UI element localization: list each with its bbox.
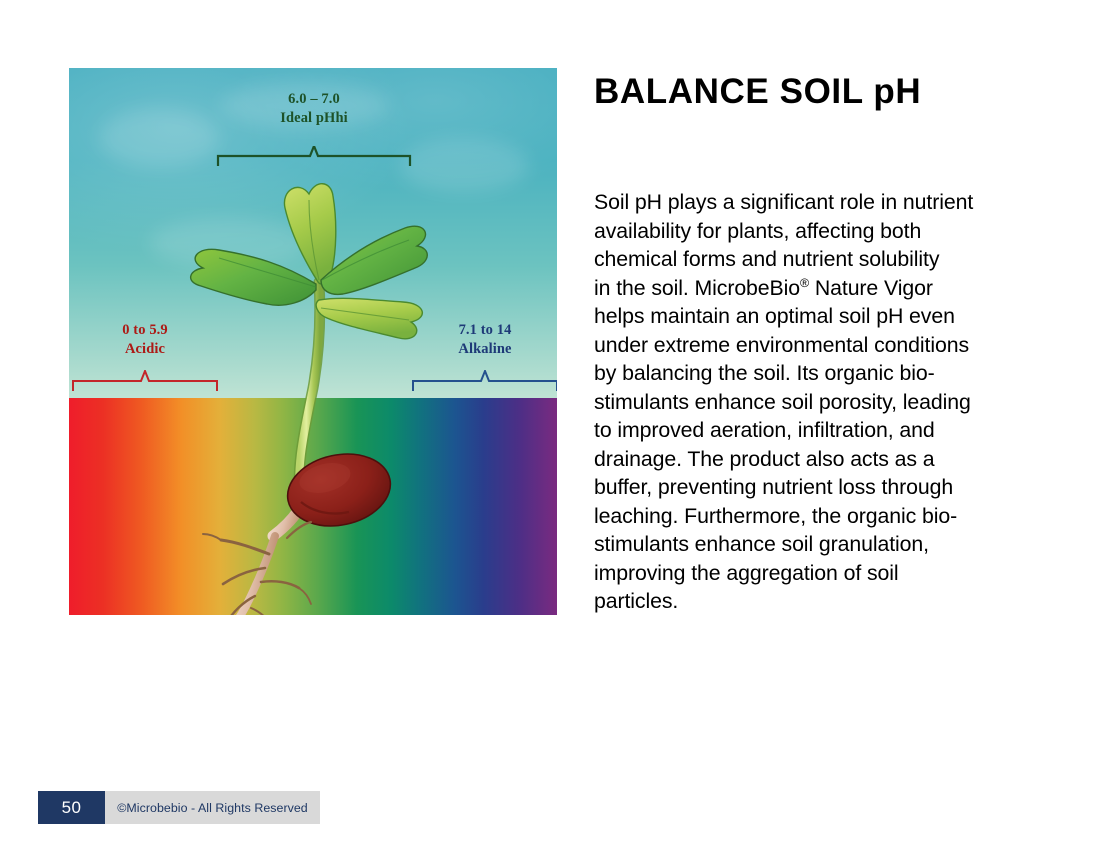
body-line: particles. — [594, 587, 1040, 616]
body-line: buffer, preventing nutrient loss through — [594, 473, 1040, 502]
acidic-ph-range: 0 to 5.9 — [85, 321, 205, 340]
body-line: under extreme environmental conditions — [594, 331, 1040, 360]
body-line: improving the aggregation of soil — [594, 559, 1040, 588]
soil-ph-illustration: 6.0 – 7.0 Ideal pHhi 0 to 5.9 Acidic 7.1… — [69, 68, 557, 615]
body-line: chemical forms and nutrient solubility — [594, 245, 1040, 274]
page-title: BALANCE SOIL pH — [594, 74, 1039, 111]
body-line: Soil pH plays a significant role in nutr… — [594, 188, 1040, 217]
content-column: BALANCE SOIL pH Soil pH plays a signific… — [594, 74, 1039, 111]
page-number: 50 — [38, 791, 105, 824]
registered-trademark-icon: ® — [800, 275, 809, 289]
body-line: leaching. Furthermore, the organic bio- — [594, 502, 1040, 531]
acidic-ph-label: 0 to 5.9 Acidic — [85, 321, 205, 359]
alkaline-ph-name: Alkaline — [425, 340, 545, 359]
alkaline-range-bracket — [411, 370, 557, 392]
body-line: in the soil. MicrobeBio® Nature Vigor — [594, 274, 1040, 303]
body-line: to improved aeration, infiltration, and — [594, 416, 1040, 445]
body-line: drainage. The product also acts as a — [594, 445, 1040, 474]
alkaline-ph-label: 7.1 to 14 Alkaline — [425, 321, 545, 359]
acidic-ph-name: Acidic — [85, 340, 205, 359]
body-line: stimulants enhance soil granulation, — [594, 530, 1040, 559]
copyright-notice: ©Microbebio - All Rights Reserved — [105, 791, 320, 824]
body-line: availability for plants, affecting both — [594, 217, 1040, 246]
body-paragraph: Soil pH plays a significant role in nutr… — [594, 188, 1040, 616]
body-line: by balancing the soil. Its organic bio- — [594, 359, 1040, 388]
ideal-ph-name: Ideal pHhi — [254, 109, 374, 128]
ideal-range-bracket — [214, 146, 414, 168]
body-line: helps maintain an optimal soil pH even — [594, 302, 1040, 331]
ideal-ph-label: 6.0 – 7.0 Ideal pHhi — [254, 90, 374, 128]
acidic-range-bracket — [71, 370, 219, 392]
body-line: stimulants enhance soil porosity, leadin… — [594, 388, 1040, 417]
alkaline-ph-range: 7.1 to 14 — [425, 321, 545, 340]
ideal-ph-range: 6.0 – 7.0 — [254, 90, 374, 109]
footer: 50 ©Microbebio - All Rights Reserved — [38, 791, 320, 824]
